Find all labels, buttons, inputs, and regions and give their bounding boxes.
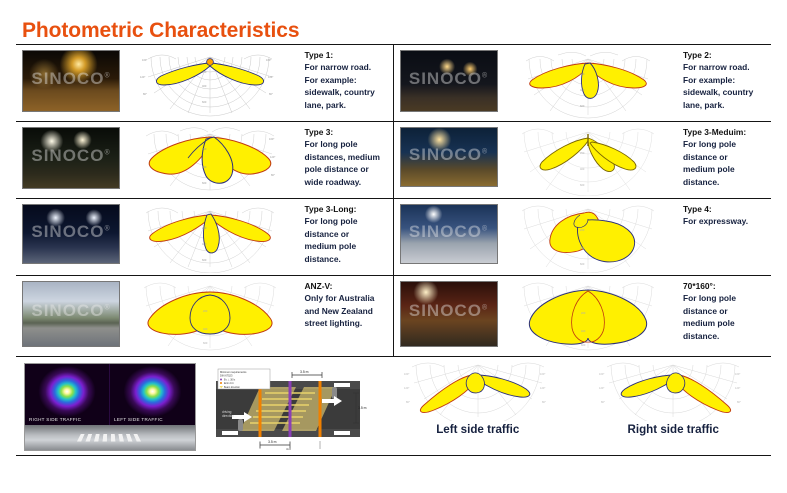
watermark: SINOCO®	[23, 301, 119, 321]
photo-cell: SINOCO®	[16, 199, 120, 269]
right-traffic-cell: 160°160° 120°120° 80°80° Right side traf…	[576, 357, 772, 455]
desc-line: distances, medium	[305, 151, 391, 163]
svg-text:160°: 160°	[266, 58, 271, 62]
polar-diagram-cell: 200400600	[498, 45, 680, 121]
svg-text:160°: 160°	[142, 58, 147, 62]
desc-line: pole distance or	[305, 163, 391, 175]
svg-text:600: 600	[580, 262, 585, 266]
type-label: Type 1:	[305, 49, 391, 61]
polar-diagram-cell: 200400600 160°120°80°	[120, 122, 301, 198]
svg-text:80°: 80°	[542, 400, 546, 404]
type-label: Type 3-Long:	[305, 203, 391, 215]
svg-text:200: 200	[580, 151, 585, 155]
isolux-cell: RIGHT SIDE TRAFFIC LEFT SIDE TRAFFIC	[16, 357, 200, 455]
type-4-expressway-polar: 200400600	[518, 201, 658, 273]
svg-text:120°: 120°	[270, 155, 275, 159]
dim-center-label: 4 m	[286, 447, 292, 451]
watermark: SINOCO®	[23, 146, 119, 166]
desc-line: For example:	[305, 74, 391, 86]
svg-text:200: 200	[202, 70, 207, 74]
svg-text:400: 400	[580, 167, 585, 171]
svg-text:600: 600	[580, 183, 585, 187]
type-3-wide-roadway-polar: 200400600 160°120°80°	[140, 124, 280, 196]
watermark: SINOCO®	[401, 301, 497, 321]
type-label: Type 3:	[305, 126, 391, 138]
misty-highway-night-photo: SINOCO®	[400, 281, 498, 347]
isolux-left-label: LEFT SIDE TRAFFIC	[114, 417, 163, 422]
desc-line: For narrow road.	[683, 61, 769, 73]
svg-text:200: 200	[580, 72, 585, 76]
polar-diagram-cell: 200400600	[498, 199, 680, 275]
svg-text:80°: 80°	[406, 400, 410, 404]
svg-text:200: 200	[202, 226, 207, 230]
isolux-comparison-image: RIGHT SIDE TRAFFIC LEFT SIDE TRAFFIC	[24, 363, 196, 451]
photo-cell: SINOCO®	[394, 276, 498, 352]
watermark: SINOCO®	[401, 69, 497, 89]
description-cell: Type 2: For narrow road. For example: si…	[679, 45, 771, 115]
type-2-narrow-road-polar: 200400600	[518, 47, 658, 119]
desc-line: medium pole	[683, 163, 769, 175]
svg-text:Emin 0.4: Emin 0.4	[224, 382, 234, 385]
desc-line: distance or	[305, 228, 391, 240]
desc-line: and New Zealand	[305, 305, 391, 317]
polar-diagram-cell: 200400600	[120, 199, 301, 275]
desc-line: For expressway.	[683, 215, 769, 227]
polar-diagram-cell: 200400600	[120, 276, 301, 356]
svg-text:600: 600	[202, 258, 207, 262]
dusk-street-lamp-photo: SINOCO®	[400, 127, 498, 187]
svg-text:200: 200	[202, 147, 207, 151]
table-row: SINOCO® 200400600	[16, 198, 771, 275]
watermark: SINOCO®	[401, 222, 497, 242]
photo-cell: SINOCO®	[394, 45, 498, 117]
table-cell-group-right: SINOCO® 20	[394, 122, 772, 198]
type-label: 70*160°:	[683, 280, 769, 292]
svg-text:200: 200	[581, 311, 586, 315]
desc-line: sidewalk, country	[683, 86, 769, 98]
description-cell: ANZ-V: Only for Australia and New Zealan…	[301, 276, 393, 334]
table-cell-group-left: SINOCO® 200400600	[16, 276, 394, 356]
desc-line: distance or	[683, 151, 769, 163]
desc-line: medium pole	[305, 240, 391, 252]
night-street-trees-photo: SINOCO®	[400, 50, 498, 112]
desc-line: Only for Australia	[305, 292, 391, 304]
desc-line: distance.	[683, 330, 769, 342]
anz-v-polar: 200400600	[140, 278, 280, 354]
svg-text:400: 400	[202, 84, 207, 88]
desc-line: lane, park.	[683, 99, 769, 111]
road-perspective	[25, 425, 195, 450]
description-cell: 70*160°: For long pole distance or mediu…	[679, 276, 771, 346]
svg-text:400: 400	[581, 329, 586, 333]
left-side-traffic-polar: 160°160° 120°120° 80°80°	[402, 359, 554, 421]
svg-text:DIN 67523: DIN 67523	[220, 374, 233, 378]
isolux-right-side: RIGHT SIDE TRAFFIC	[25, 364, 110, 425]
left-traffic-label: Left side traffic	[436, 423, 519, 436]
svg-text:400: 400	[202, 165, 207, 169]
crosswalk-lighting-diagram: driving direction 3.5 m 3.5 m 3.5 m 4 m	[204, 365, 372, 451]
desc-line: For long pole	[683, 138, 769, 150]
photometric-characteristics-page: Photometric Characteristics SINOCO®	[0, 0, 787, 493]
page-title: Photometric Characteristics	[22, 19, 299, 43]
photometric-table: SINOCO® 160°160°	[16, 44, 771, 476]
svg-text:160°: 160°	[599, 372, 604, 376]
description-cell: Type 3-Meduim: For long pole distance or…	[679, 122, 771, 192]
description-cell: Type 1: For narrow road. For example: si…	[301, 45, 393, 115]
table-cell-group-left: SINOCO® 160°160°	[16, 45, 394, 121]
isolux-left-side: LEFT SIDE TRAFFIC	[110, 364, 195, 425]
photo-cell: SINOCO®	[394, 199, 498, 269]
svg-text:600: 600	[580, 104, 585, 108]
desc-line: sidewalk, country	[305, 86, 391, 98]
photo-cell: SINOCO®	[16, 122, 120, 194]
svg-text:120°: 120°	[599, 386, 604, 390]
desc-line: distance or	[683, 305, 769, 317]
table-cell-group-right: SINOCO® 200400600	[394, 199, 772, 275]
svg-text:160°: 160°	[540, 372, 545, 376]
dim-top-label: 3.5 m	[300, 370, 309, 374]
svg-text:80°: 80°	[269, 92, 273, 96]
type-3-long-polar: 200400600	[140, 201, 280, 273]
svg-text:80°: 80°	[601, 400, 605, 404]
polar-diagram-cell: 160°160° 120°120° 80°80° 200400600	[120, 45, 301, 121]
table-cell-group-left: SINOCO® 200400600	[16, 199, 394, 275]
watermark: SINOCO®	[23, 69, 119, 89]
desc-line: For narrow road.	[305, 61, 391, 73]
right-side-traffic-polar: 160°160° 120°120° 80°80°	[597, 359, 749, 421]
left-traffic-cell: 160°160° 120°120° 80°80° Left side traff…	[380, 357, 576, 455]
table-row-bottom: RIGHT SIDE TRAFFIC LEFT SIDE TRAFFIC	[16, 356, 771, 456]
type-label: Type 2:	[683, 49, 769, 61]
description-cell: Type 4: For expressway.	[679, 199, 771, 232]
svg-text:direction: direction	[222, 414, 234, 418]
expressway-lamp-row-photo: SINOCO®	[400, 204, 498, 264]
svg-text:200: 200	[580, 228, 585, 232]
70-160-degrees-polar: 200400600	[518, 278, 658, 354]
photo-cell: SINOCO®	[16, 45, 120, 117]
desc-line: For long pole	[305, 215, 391, 227]
description-cell: Type 3: For long pole distances, medium …	[301, 122, 393, 192]
night-street-sidewalk-photo: SINOCO®	[22, 50, 120, 112]
dim-bottom-label: 3.5 m	[268, 440, 277, 444]
dim-right-label: 3.5 m	[358, 406, 367, 410]
isolux-right-label: RIGHT SIDE TRAFFIC	[29, 417, 81, 422]
desc-line: distance.	[305, 253, 391, 265]
table-cell-group-left: SINOCO® 20	[16, 122, 394, 198]
svg-text:600: 600	[202, 100, 207, 104]
desc-line: For long pole	[683, 292, 769, 304]
svg-text:80°: 80°	[143, 92, 147, 96]
svg-text:160°: 160°	[269, 137, 274, 141]
svg-text:Beam direction: Beam direction	[224, 386, 241, 389]
type-1-narrow-road-polar: 160°160° 120°120° 80°80° 200400600	[140, 47, 280, 119]
svg-text:400: 400	[203, 327, 208, 331]
polar-diagram-cell: 200400600	[498, 122, 680, 198]
table-row: SINOCO® 200400600	[16, 275, 771, 356]
type-label: ANZ-V:	[305, 280, 391, 292]
right-traffic-label: Right side traffic	[628, 423, 719, 436]
svg-text:160°: 160°	[735, 372, 740, 376]
desc-line: wide roadway.	[305, 176, 391, 188]
photo-cell: SINOCO®	[16, 276, 120, 352]
svg-text:160°: 160°	[404, 372, 409, 376]
svg-text:120°: 120°	[404, 386, 409, 390]
svg-text:400: 400	[580, 246, 585, 250]
legend-title: Minimum requirements	[220, 370, 247, 374]
type-label: Type 4:	[683, 203, 769, 215]
foggy-street-lights-photo: SINOCO®	[22, 127, 120, 189]
desc-line: lane, park.	[305, 99, 391, 111]
watermark: SINOCO®	[401, 145, 497, 165]
desc-line: For long pole	[305, 138, 391, 150]
table-row: SINOCO® 20	[16, 121, 771, 198]
road-diagram-cell: driving direction 3.5 m 3.5 m 3.5 m 4 m	[200, 357, 380, 455]
crosswalk-diagram-svg: driving direction 3.5 m 3.5 m 3.5 m 4 m	[204, 365, 372, 451]
table-row: SINOCO® 160°160°	[16, 44, 771, 121]
polar-diagram-cell: 200400600	[498, 276, 680, 356]
desc-line: street lighting.	[305, 317, 391, 329]
svg-text:80°: 80°	[737, 400, 741, 404]
svg-text:120°: 120°	[735, 386, 740, 390]
highway-night-photo: SINOCO®	[22, 204, 120, 264]
svg-text:200: 200	[203, 309, 208, 313]
table-cell-group-right: SINOCO® 200400600	[394, 276, 772, 356]
svg-text:80°: 80°	[271, 173, 275, 177]
svg-text:600: 600	[202, 181, 207, 185]
svg-text:120°: 120°	[140, 75, 145, 79]
description-cell: Type 3-Long: For long pole distance or m…	[301, 199, 393, 269]
table-cell-group-right: SINOCO® 200400600	[394, 45, 772, 121]
desc-line: medium pole	[683, 317, 769, 329]
photo-cell: SINOCO®	[394, 122, 498, 192]
svg-text:400: 400	[202, 242, 207, 246]
svg-text:120°: 120°	[268, 75, 273, 79]
svg-text:600: 600	[581, 343, 586, 347]
desc-line: distance.	[683, 176, 769, 188]
watermark: SINOCO®	[23, 222, 119, 242]
type-3-medium-polar: 200400600	[518, 124, 658, 196]
daytime-australian-road-photo: SINOCO®	[22, 281, 120, 347]
desc-line: For example:	[683, 74, 769, 86]
svg-text:400: 400	[580, 88, 585, 92]
type-label: Type 3-Meduim:	[683, 126, 769, 138]
svg-text:600: 600	[203, 341, 208, 345]
svg-text:120°: 120°	[540, 386, 545, 390]
